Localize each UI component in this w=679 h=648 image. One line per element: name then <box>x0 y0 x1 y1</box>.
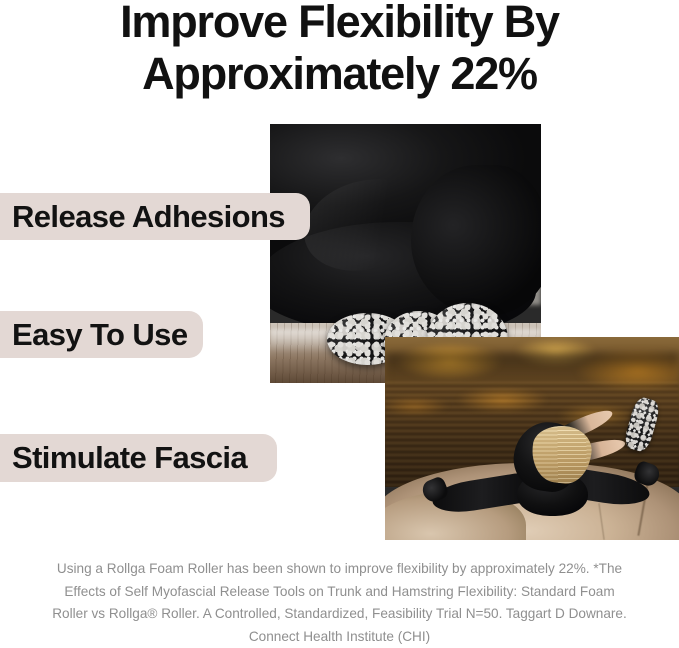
roller-segment-line <box>627 427 653 436</box>
caption-line-2: Effects of Self Myofascial Release Tools… <box>8 581 671 604</box>
page-title: Improve Flexibility By Approximately 22% <box>0 0 679 100</box>
headline-line-2: Approximately 22% <box>0 48 679 100</box>
roller-segment-line <box>632 411 658 420</box>
benefit-pill-release-adhesions: Release Adhesions <box>0 193 310 240</box>
caption-line-3: Roller vs Rollga® Roller. A Controlled, … <box>8 603 671 626</box>
benefit-pill-label: Stimulate Fascia <box>0 440 247 476</box>
benefit-pill-label: Easy To Use <box>0 317 187 353</box>
photo-shadow-band <box>385 353 679 385</box>
benefit-pill-label: Release Adhesions <box>0 199 285 235</box>
benefit-pill-stimulate-fascia: Stimulate Fascia <box>0 434 277 482</box>
caption-line-4: Connect Health Institute (CHI) <box>8 626 671 648</box>
infographic-canvas: Improve Flexibility By Approximately 22% <box>0 0 679 647</box>
headline-line-1: Improve Flexibility By <box>0 0 679 48</box>
citation-caption: Using a Rollga Foam Roller has been show… <box>8 558 671 648</box>
caption-line-1: Using a Rollga Foam Roller has been show… <box>8 558 671 581</box>
benefit-pill-easy-to-use: Easy To Use <box>0 311 203 358</box>
straddle-split-photo <box>385 337 679 540</box>
